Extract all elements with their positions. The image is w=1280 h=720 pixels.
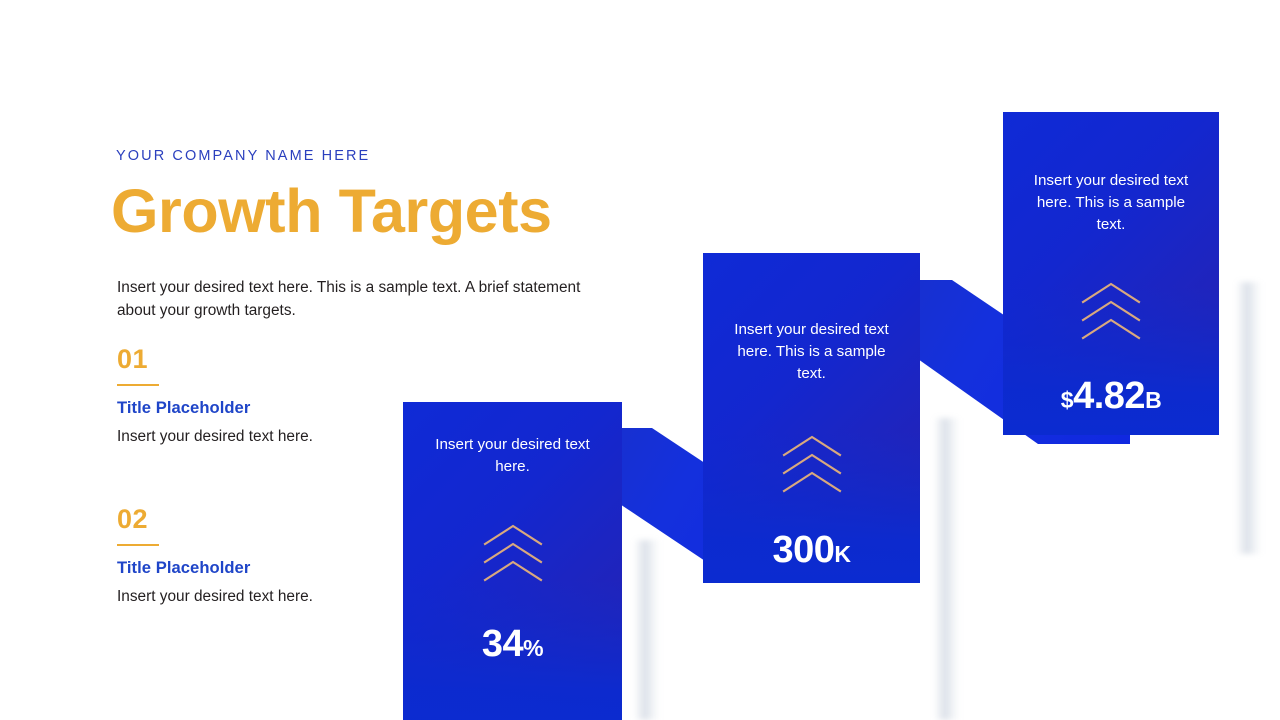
list-item-rule [117,384,159,386]
list-item[interactable]: 02 Title Placeholder Insert your desired… [117,506,417,608]
list-item-description: Insert your desired text here. [117,426,417,448]
stat-card-value: $4.82B [1061,377,1161,415]
stat-card[interactable]: Insert your desired text here. This is a… [703,253,920,583]
triple-chevron-up-icon [1077,280,1145,345]
card-shadow-strip-3 [1236,282,1262,554]
stat-card[interactable]: Insert your desired text here. This is a… [1003,112,1219,435]
stat-card-value: 300K [772,531,850,569]
triple-chevron-up-icon [479,522,547,587]
list-item-description: Insert your desired text here. [117,586,417,608]
slide-canvas: YOUR COMPANY NAME HERE Growth Targets In… [0,0,1280,720]
company-name-eyebrow: YOUR COMPANY NAME HERE [116,148,370,164]
stat-value-main: 300 [772,529,834,571]
stat-value-suffix: B [1145,387,1161,413]
list-item-rule [117,544,159,546]
card-shadow-strip-2 [934,418,960,720]
stat-value-main: 34 [482,623,523,665]
page-title: Growth Targets [111,178,552,245]
list-item-number: 02 [117,506,417,533]
triple-chevron-up-icon [778,433,846,498]
stat-value-suffix: K [834,541,850,567]
stat-card-text: Insert your desired text here. [425,434,601,478]
stat-value-prefix: $ [1061,387,1073,413]
list-item-title: Title Placeholder [117,558,417,578]
stat-card-text: Insert your desired text here. This is a… [724,319,900,385]
stat-card-text: Insert your desired text here. This is a… [1025,170,1197,236]
list-item[interactable]: 01 Title Placeholder Insert your desired… [117,346,417,448]
list-item-title: Title Placeholder [117,398,417,418]
stat-value-suffix: % [523,635,543,661]
intro-paragraph: Insert your desired text here. This is a… [117,276,609,323]
stat-card[interactable]: Insert your desired text here. 34% [403,402,622,720]
stat-card-value: 34% [482,625,543,663]
card-shadow-strip-1 [634,540,660,720]
list-item-number: 01 [117,346,417,373]
stat-value-main: 4.82 [1073,375,1145,417]
